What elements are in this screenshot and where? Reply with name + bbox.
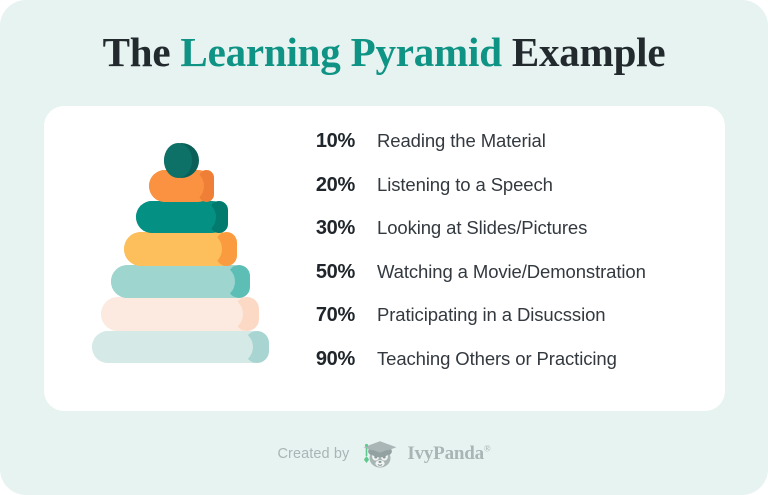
title-part-2: Example: [502, 29, 666, 75]
created-by-label: Created by: [277, 446, 349, 462]
ring-teal: [136, 201, 228, 233]
top-sphere: [164, 143, 199, 178]
activity-label: Watching a Movie/Demonstration: [377, 261, 646, 283]
percent-value: 90%: [297, 348, 355, 371]
content-card: 10% Reading the Material 20% Listening t…: [44, 106, 725, 411]
panda-graduate-icon: [358, 437, 398, 471]
ring-aqua: [111, 265, 250, 298]
learning-pyramid-list: 10% Reading the Material 20% Listening t…: [297, 130, 717, 392]
registered-mark: ®: [484, 444, 491, 454]
activity-label: Teaching Others or Practicing: [377, 348, 617, 370]
brand-text: IvyPanda: [407, 443, 484, 464]
footer-credit: Created by: [0, 437, 768, 471]
list-item: 90% Teaching Others or Practicing: [297, 348, 717, 392]
activity-label: Listening to a Speech: [377, 174, 553, 196]
title-accent: Learning Pyramid: [180, 29, 501, 75]
page-title: The Learning Pyramid Example: [0, 28, 768, 76]
list-item: 50% Watching a Movie/Demonstration: [297, 261, 717, 305]
brand-name: IvyPanda®: [407, 443, 490, 465]
percent-value: 70%: [297, 304, 355, 327]
percent-value: 50%: [297, 261, 355, 284]
ring-peach: [101, 297, 259, 331]
ring-mint-face: [92, 331, 253, 363]
ring-mint: [92, 331, 269, 363]
percent-value: 20%: [297, 174, 355, 197]
percent-value: 30%: [297, 217, 355, 240]
activity-label: Praticipating in a Disucssion: [377, 304, 605, 326]
ring-aqua-face: [111, 265, 235, 298]
ring-amber-face: [124, 232, 222, 266]
activity-label: Looking at Slides/Pictures: [377, 217, 587, 239]
list-item: 20% Listening to a Speech: [297, 174, 717, 218]
list-item: 30% Looking at Slides/Pictures: [297, 217, 717, 261]
percent-value: 10%: [297, 130, 355, 153]
pyramid-illustration: [92, 136, 322, 386]
list-item: 70% Praticipating in a Disucssion: [297, 304, 717, 348]
ring-teal-face: [136, 201, 216, 233]
ring-peach-face: [101, 297, 243, 331]
activity-label: Reading the Material: [377, 130, 546, 152]
ring-amber: [124, 232, 237, 266]
title-part-1: The: [103, 29, 181, 75]
poster-canvas: The Learning Pyramid Example: [0, 0, 768, 495]
top-sphere-face: [164, 143, 192, 178]
list-item: 10% Reading the Material: [297, 130, 717, 174]
